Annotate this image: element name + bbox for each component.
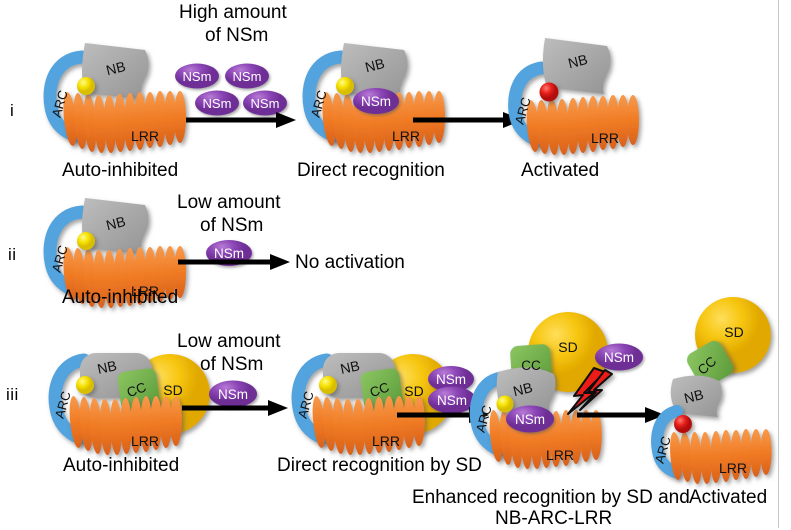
autoinhibition-dot-yellow — [497, 396, 514, 413]
complex-enhanced-recognition: ARC NB CC SD LRR NSm NSm — [468, 300, 668, 480]
label-sd: SD — [724, 324, 743, 340]
caption-auto-inhibited-ii: Auto-inhibited — [62, 287, 178, 309]
autoinhibition-dot-yellow — [336, 77, 354, 95]
arrow-row-i-1 — [186, 110, 296, 130]
row-i-condition-line2: of NSm — [205, 25, 268, 47]
nsm-label: NSm — [251, 96, 280, 111]
caption-direct-recognition: Direct recognition — [297, 160, 445, 182]
row-ii-condition-line2: of NSm — [200, 215, 263, 237]
label-sd: SD — [558, 339, 577, 355]
activation-dot-red — [674, 415, 692, 433]
label-cc: CC — [521, 358, 541, 373]
caption-activated-iii: Activated — [689, 487, 767, 509]
complex-direct-recognition: ARC NB LRR NSm — [294, 33, 454, 158]
nsm-label: NSm — [604, 350, 634, 365]
nsm-label: NSm — [515, 412, 545, 427]
caption-direct-recognition-sd: Direct recognition by SD — [277, 455, 482, 477]
label-lrr: LRR — [372, 433, 400, 449]
complex-auto-inhibited-i: ARC NB LRR — [35, 33, 195, 158]
caption-no-activation: No activation — [295, 252, 405, 274]
row-numeral-iii: iii — [6, 385, 19, 405]
label-lrr: LRR — [131, 433, 159, 449]
page-edge-line — [778, 0, 779, 528]
label-sd: SD — [404, 383, 423, 399]
nsm-label: NSm — [183, 69, 212, 84]
autoinhibition-dot-yellow — [76, 376, 94, 394]
autoinhibition-dot-yellow — [77, 77, 95, 95]
arrow-row-ii-1 — [178, 252, 290, 272]
label-lrr: LRR — [546, 447, 574, 463]
caption-auto-inhibited-iii: Auto-inhibited — [63, 455, 179, 477]
activation-dot-red — [540, 83, 559, 102]
label-lrr: LRR — [131, 128, 159, 144]
autoinhibition-dot-yellow — [77, 232, 95, 250]
autoinhibition-dot-yellow — [319, 376, 337, 394]
label-sd: SD — [163, 382, 182, 398]
row-numeral-ii: ii — [8, 245, 17, 265]
caption-activated-i: Activated — [521, 160, 599, 182]
label-lrr: LRR — [591, 130, 619, 146]
complex-activated-i: ARC NB LRR — [495, 30, 660, 160]
caption-auto-inhibited-i: Auto-inhibited — [62, 160, 178, 182]
caption-enhanced-recognition-line2: NB-ARC-LRR — [495, 508, 612, 530]
nsm-label: NSm — [203, 96, 232, 111]
nsm-label: NSm — [361, 94, 391, 109]
row-i-condition-line1: High amount — [179, 2, 287, 24]
figure-canvas: i ii iii High amount of NSm — [0, 0, 791, 528]
row-numeral-i: i — [10, 101, 14, 121]
label-lrr: LRR — [719, 460, 747, 476]
label-lrr: LRR — [392, 128, 420, 144]
arrow-row-iii-1 — [182, 398, 288, 418]
nsm-label: NSm — [233, 69, 262, 84]
complex-svg: ARC NB LRR — [35, 33, 195, 158]
complex-activated-iii: ARC NB CC SD LRR — [645, 293, 791, 493]
